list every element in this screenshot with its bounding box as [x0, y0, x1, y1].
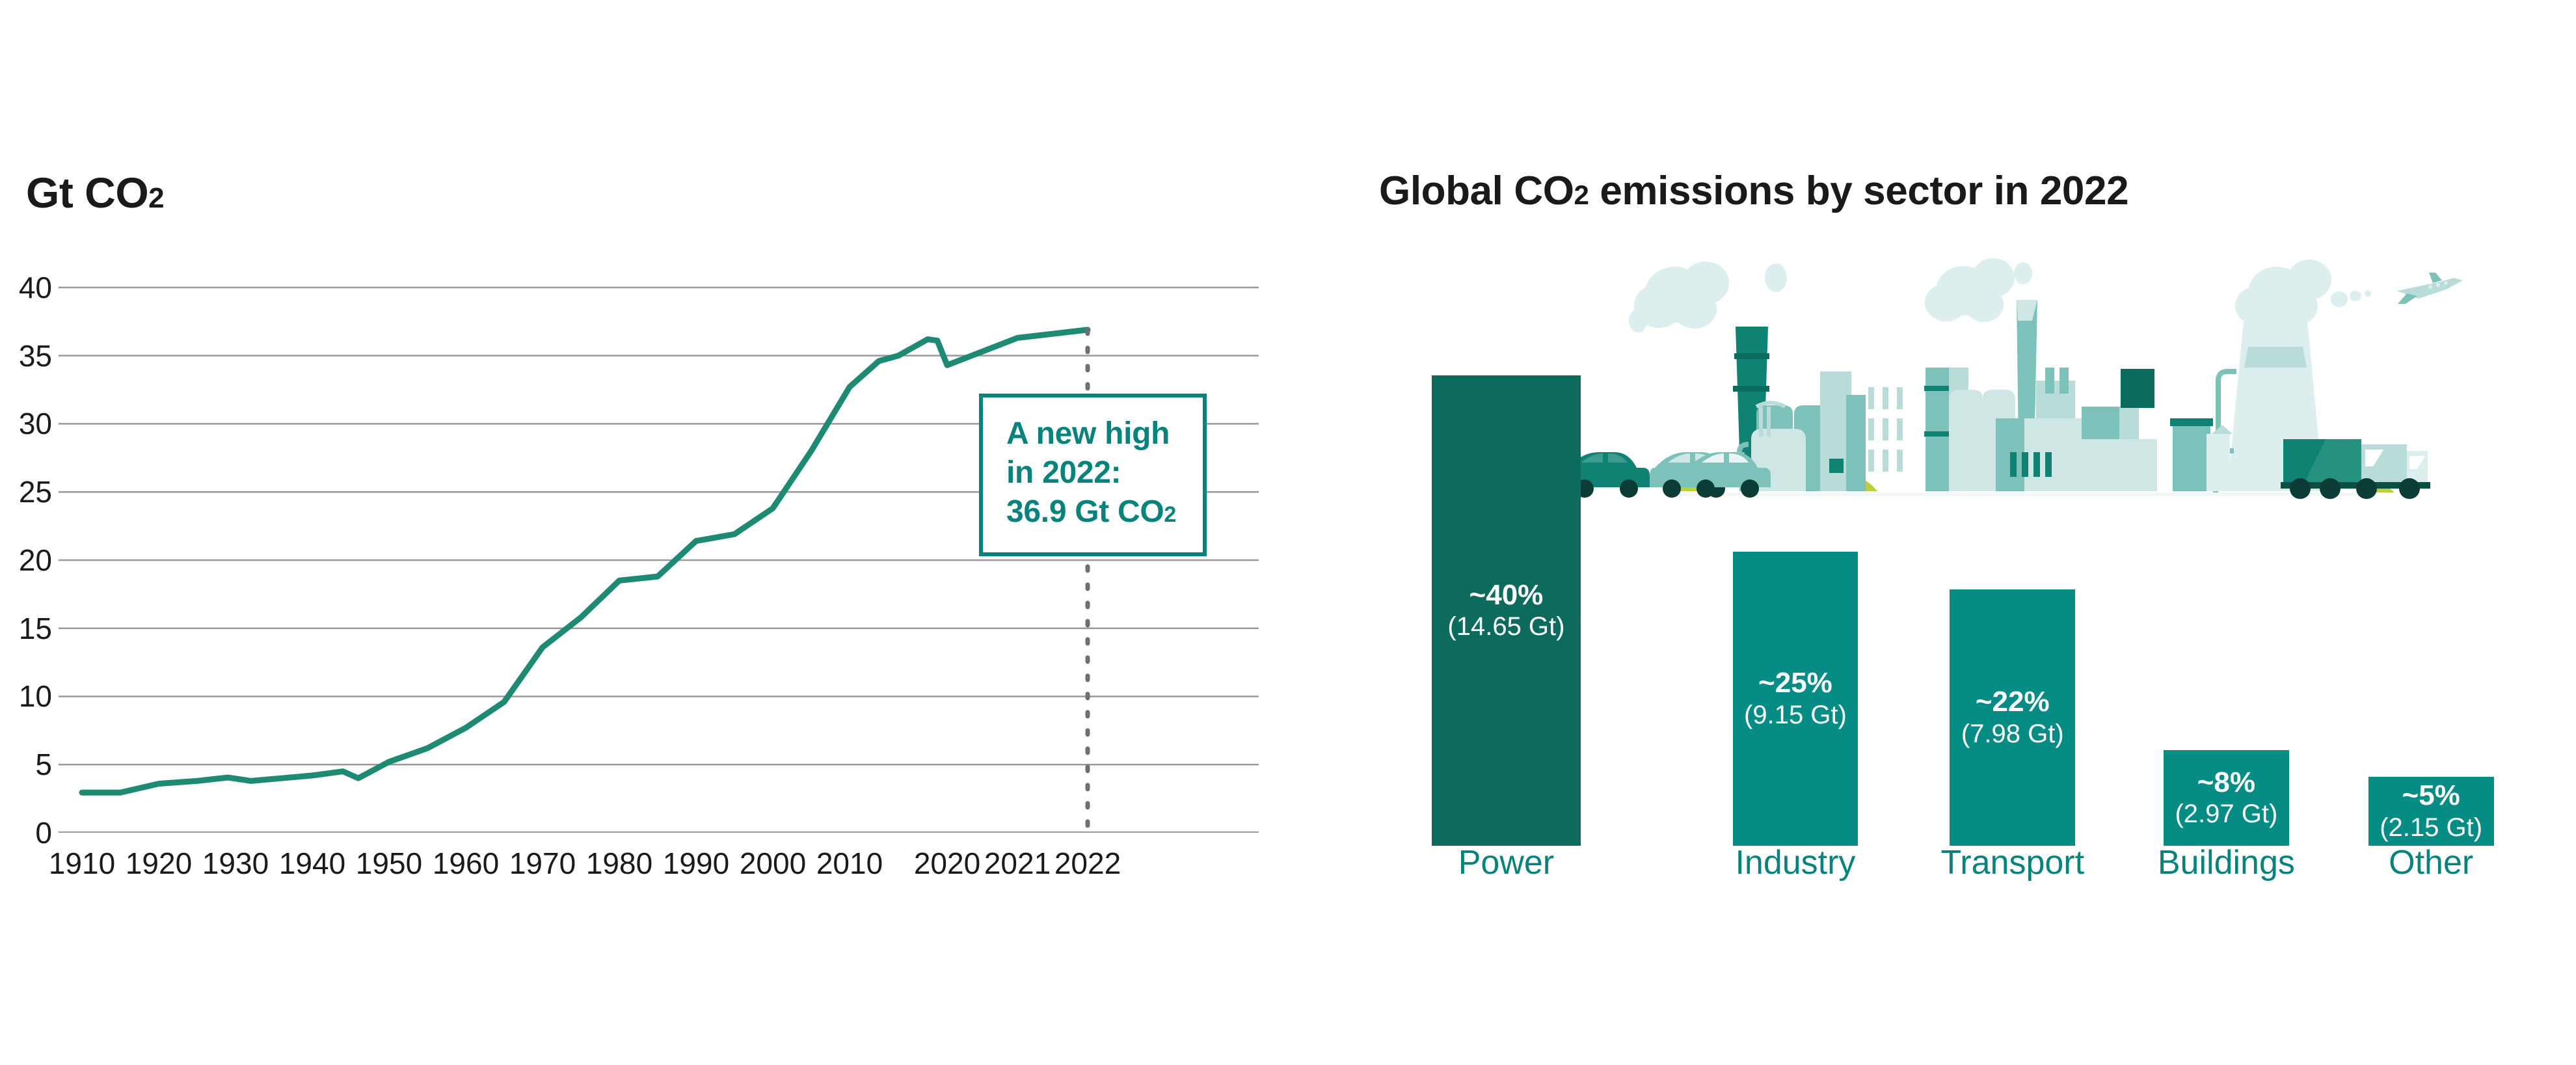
x-axis-tick-label: 2020	[914, 846, 980, 881]
bar-percent-label: ~25%	[1758, 667, 1832, 699]
emissions-line	[82, 330, 1088, 792]
page-title: Global CO2 emissions by sector in 2022	[1379, 168, 2128, 214]
bar-chart-panel: Global CO2 emissions by sector in 2022	[1353, 0, 2576, 1065]
y-axis-tick-label: 35	[19, 338, 52, 373]
x-axis-tick-label: 1960	[433, 846, 499, 881]
bar-percent-label: ~5%	[2402, 779, 2460, 811]
y-axis-tick-label: 10	[19, 679, 52, 714]
airplane-icon	[2397, 273, 2463, 304]
callout-value: 36.9 Gt CO	[1006, 494, 1164, 529]
y-axis-title-text: Gt CO	[26, 169, 148, 217]
y-axis-title-subscript: 2	[148, 182, 164, 214]
callout-line-2: in 2022:	[1006, 453, 1203, 492]
category-label-power: Power	[1458, 843, 1554, 882]
sector-category-labels: PowerIndustryTransportBuildingsOther	[1353, 843, 2576, 902]
bar-transport: ~22%(7.98 Gt)	[1950, 589, 2075, 846]
y-axis-tick-labels: 0510152025303540	[0, 260, 52, 833]
x-axis-tick-label: 2022	[1054, 846, 1121, 881]
bar-percent-label: ~40%	[1469, 579, 1544, 611]
bar-value-label: (2.15 Gt)	[2380, 812, 2482, 843]
bar-other: ~5%(2.15 Gt)	[2368, 777, 2494, 846]
y-axis-tick-label: 30	[19, 406, 52, 441]
x-axis-tick-label: 1970	[509, 846, 576, 881]
bar-value-label: (14.65 Gt)	[1447, 611, 1564, 642]
x-axis-tick-label: 1990	[663, 846, 729, 881]
category-label-transport: Transport	[1940, 843, 2084, 882]
y-axis-title: Gt CO2	[26, 168, 164, 217]
callout-line-1: A new high	[1006, 414, 1203, 453]
category-label-other: Other	[2389, 843, 2473, 882]
page-title-subscript: 2	[1574, 180, 1589, 210]
gridlines	[59, 288, 1259, 833]
bar-percent-label: ~8%	[2197, 766, 2255, 798]
bar-value-label: (9.15 Gt)	[1744, 699, 1847, 731]
x-axis-tick-label: 2000	[740, 846, 806, 881]
x-axis-tick-label: 1910	[49, 846, 115, 881]
x-axis-tick-label: 1950	[356, 846, 422, 881]
infographic-page: Gt CO2 0510152025303540 1910192019301940…	[0, 0, 2576, 1065]
bar-buildings: ~8%(2.97 Gt)	[2164, 750, 2289, 846]
y-axis-tick-label: 20	[19, 543, 52, 578]
x-axis-tick-labels: 1910192019301940195019601970198019902000…	[0, 846, 1301, 904]
bar-value-label: (2.97 Gt)	[2175, 798, 2277, 829]
y-axis-tick-label: 40	[19, 270, 52, 305]
category-label-buildings: Buildings	[2158, 843, 2295, 882]
x-axis-tick-label: 1940	[279, 846, 345, 881]
page-title-text: Global CO	[1379, 169, 1574, 213]
bar-value-label: (7.98 Gt)	[1961, 718, 2064, 749]
line-chart-panel: Gt CO2 0510152025303540 1910192019301940…	[0, 0, 1301, 1065]
x-axis-tick-label: 2021	[984, 846, 1051, 881]
callout-box: A new high in 2022: 36.9 Gt CO2	[979, 394, 1207, 556]
y-axis-tick-label: 15	[19, 611, 52, 646]
x-axis-tick-label: 2010	[816, 846, 883, 881]
y-axis-tick-label: 5	[35, 747, 52, 782]
x-axis-tick-label: 1920	[126, 846, 192, 881]
bar-percent-label: ~22%	[1976, 686, 2050, 718]
x-axis-tick-label: 1930	[202, 846, 269, 881]
sector-bars: ~40%(14.65 Gt)~25%(9.15 Gt)~22%(7.98 Gt)…	[1353, 325, 2576, 846]
callout-subscript: 2	[1164, 502, 1176, 527]
x-axis-tick-label: 1980	[586, 846, 652, 881]
page-title-rest: emissions by sector in 2022	[1589, 169, 2129, 213]
bar-industry: ~25%(9.15 Gt)	[1733, 552, 1858, 846]
y-axis-tick-label: 25	[19, 474, 52, 509]
callout-line-3: 36.9 Gt CO2	[1006, 492, 1203, 532]
y-axis-tick-label: 0	[35, 815, 52, 850]
bar-power: ~40%(14.65 Gt)	[1432, 375, 1580, 846]
category-label-industry: Industry	[1735, 843, 1855, 882]
